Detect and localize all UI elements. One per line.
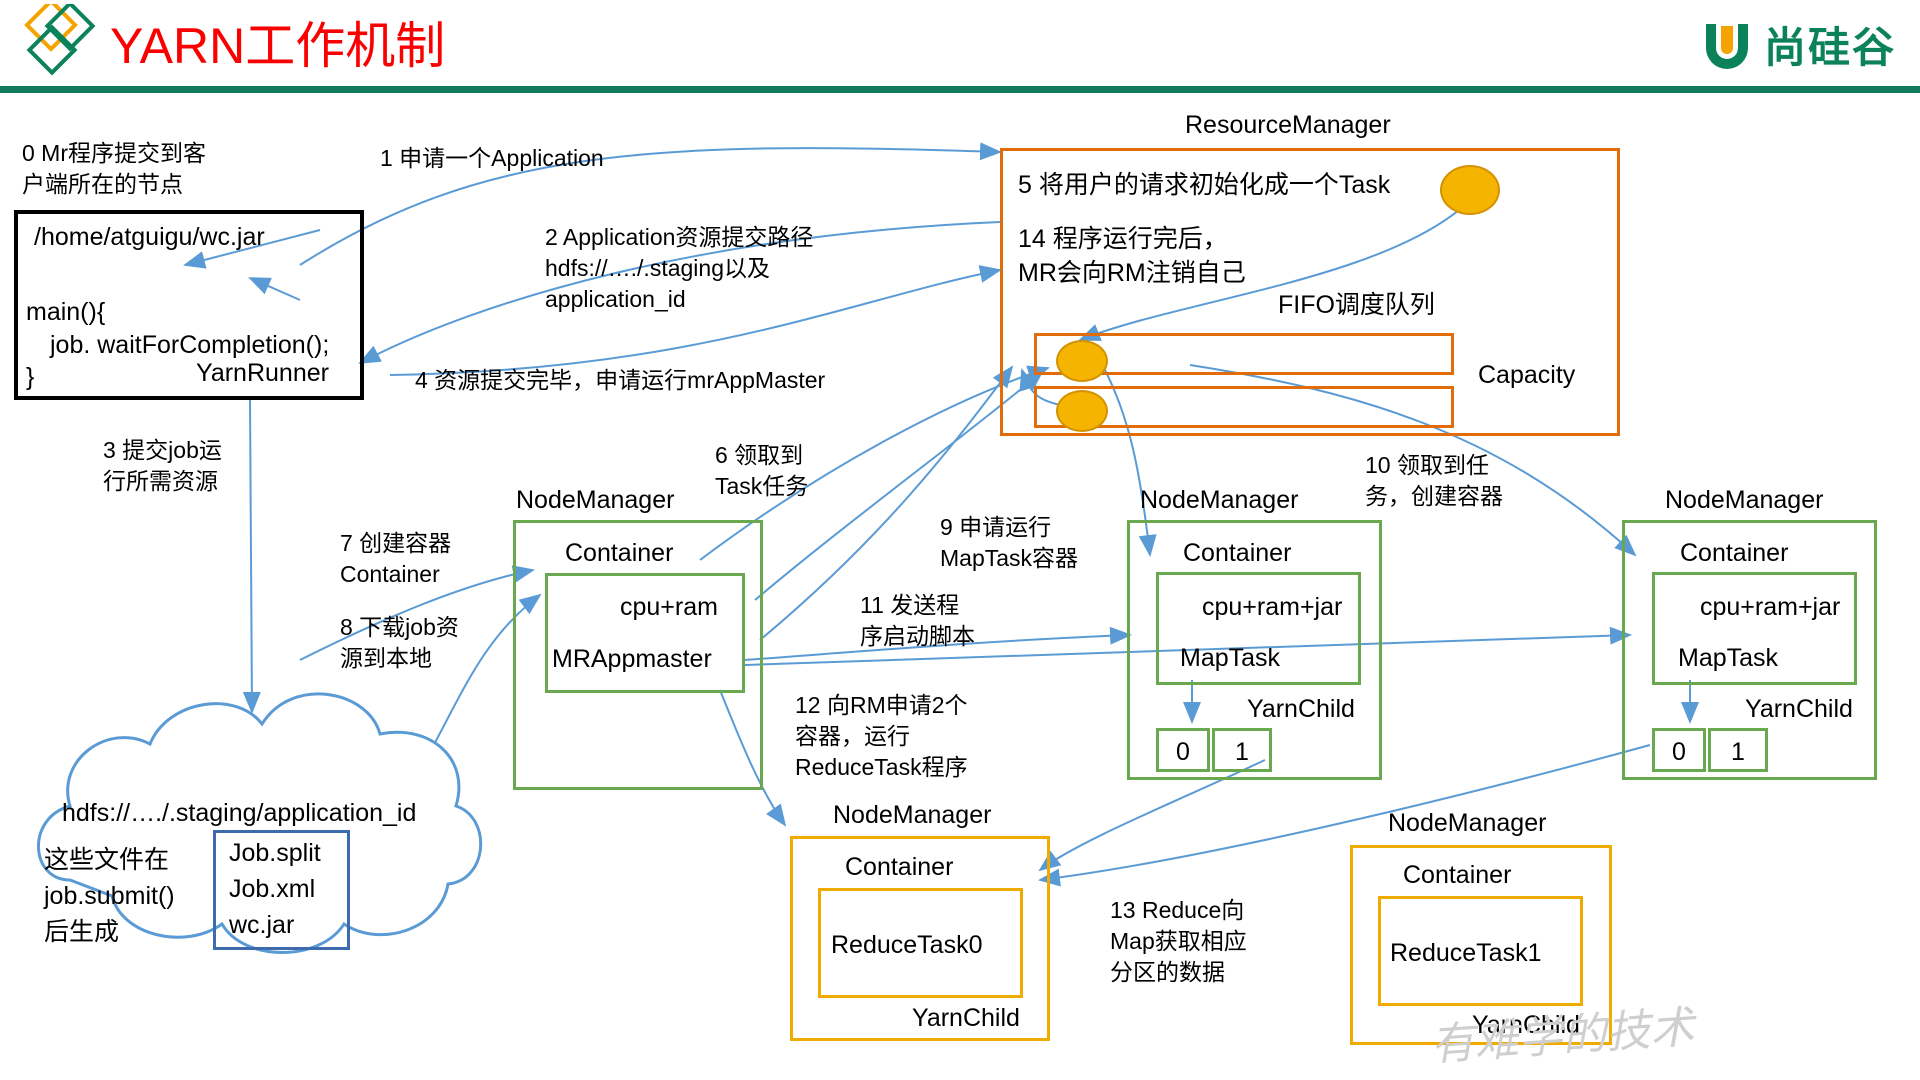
hdfs-file-2: wc.jar (229, 910, 294, 941)
page-header: YARN工作机制 尚硅谷 (0, 0, 1920, 92)
step-3-label: 3 提交job运 行所需资源 (103, 435, 222, 497)
hdfs-path-label: hdfs://…./.staging/application_id (62, 798, 416, 829)
step-10-label: 10 领取到任 务，创建容器 (1365, 450, 1503, 512)
step-14-label: 14 程序运行完后， MR会向RM注销自己 (1018, 222, 1246, 290)
nm-appmaster-title: NodeManager (516, 485, 674, 516)
nm-appmaster-container-label: Container (565, 538, 673, 569)
nm-appmaster-task: MRAppmaster (552, 644, 712, 675)
nm-reducetask-0-title: NodeManager (833, 800, 991, 831)
page-title: YARN工作机制 (110, 6, 445, 78)
nm-maptask-1-child-label: YarnChild (1247, 694, 1355, 725)
hdfs-note-label: 这些文件在 job.submit() 后生成 (44, 842, 175, 950)
nm-maptask-2-task: MapTask (1678, 643, 1778, 674)
nm-maptask-1-title: NodeManager (1140, 485, 1298, 516)
step-2-label: 2 Application资源提交路径 hdfs://…./.staging以及… (545, 222, 813, 315)
nm-reducetask-0-container-label: Container (845, 852, 953, 883)
nm-reducetask-1-title: NodeManager (1388, 808, 1546, 839)
hdfs-file-1: Job.xml (229, 874, 315, 905)
brand-logo: 尚硅谷 (1700, 14, 1896, 75)
step-6-label: 6 领取到 Task任务 (715, 440, 808, 502)
rm-queue-task-2 (1056, 390, 1108, 432)
step-13-label: 13 Reduce向 Map获取相应 分区的数据 (1110, 895, 1247, 988)
client-main-call: job. waitForCompletion(); (50, 330, 329, 361)
step-9-label: 9 申请运行 MapTask容器 (940, 512, 1078, 574)
nm-maptask-2-child-label: YarnChild (1745, 694, 1853, 725)
step-8-label: 8 下载job资 源到本地 (340, 612, 459, 674)
rm-task-oval (1440, 165, 1500, 215)
step-4-label: 4 资源提交完毕，申请运行mrAppMaster (415, 365, 825, 396)
nm-maptask-1-container-label: Container (1183, 538, 1291, 569)
step-11-label: 11 发送程 序启动脚本 (860, 590, 975, 652)
nm-appmaster-container-box (545, 573, 745, 693)
nm-reducetask-1-container-label: Container (1403, 860, 1511, 891)
client-main-close: } (26, 362, 34, 393)
header-divider (0, 86, 1920, 93)
step-7-label: 7 创建容器 Container (340, 528, 451, 590)
step-5-label: 5 将用户的请求初始化成一个Task (1018, 170, 1390, 201)
rm-queue-task-1 (1056, 340, 1108, 382)
diamond-logo-icon (20, 4, 100, 84)
nm-maptask-2-title: NodeManager (1665, 485, 1823, 516)
step-1-label: 1 申请一个Application (380, 143, 604, 174)
nm-maptask-1-resources: cpu+ram+jar (1202, 592, 1342, 623)
nm-maptask-2-resources: cpu+ram+jar (1700, 592, 1840, 623)
nm-maptask-1-task: MapTask (1180, 643, 1280, 674)
nm-appmaster-resources: cpu+ram (620, 592, 718, 623)
client-main-open: main(){ (26, 297, 105, 328)
nm-maptask-2-partition-0: 0 (1652, 737, 1706, 768)
nm-maptask-2-container-label: Container (1680, 538, 1788, 569)
nm-maptask-2-partition-1: 1 (1708, 737, 1768, 768)
step-12-label: 12 向RM申请2个 容器，运行 ReduceTask程序 (795, 690, 968, 783)
step-0-note: 0 Mr程序提交到客 户端所在的节点 (22, 138, 206, 200)
client-jar-path: /home/atguigu/wc.jar (34, 222, 265, 253)
nm-reducetask-0-child-label: YarnChild (912, 1003, 1020, 1034)
fifo-queue-label: FIFO调度队列 (1278, 290, 1435, 321)
nm-reducetask-1-task: ReduceTask1 (1390, 938, 1541, 969)
resource-manager-title: ResourceManager (1185, 110, 1391, 141)
nm-maptask-1-partition-0: 0 (1156, 737, 1210, 768)
capacity-label: Capacity (1478, 360, 1575, 391)
hdfs-file-0: Job.split (229, 838, 321, 869)
brand-name: 尚硅谷 (1764, 14, 1896, 75)
nm-reducetask-0-task: ReduceTask0 (831, 930, 982, 961)
nm-maptask-1-partition-1: 1 (1212, 737, 1272, 768)
client-yarnrunner-label: YarnRunner (196, 358, 329, 389)
atguigu-u-icon (1700, 18, 1754, 72)
